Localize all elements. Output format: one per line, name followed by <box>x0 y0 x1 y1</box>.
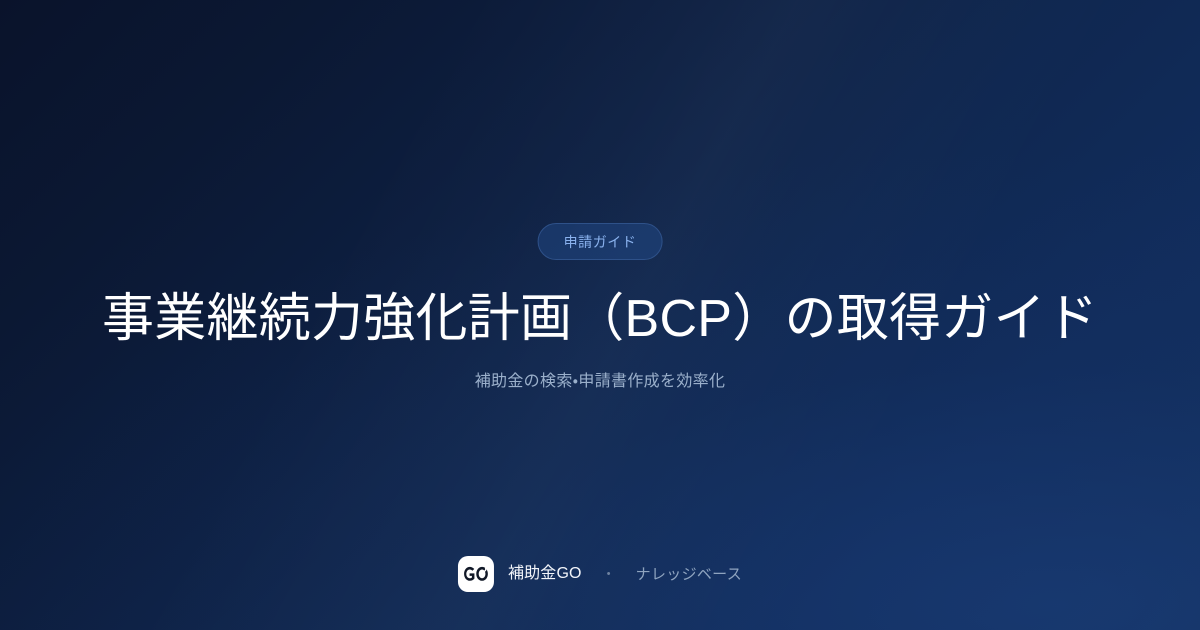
brand-footer: 補助金GO ・ ナレッジベース <box>458 556 742 592</box>
brand-separator: ・ <box>602 567 616 581</box>
category-badge: 申請ガイド <box>538 223 663 260</box>
card-content: 申請ガイド 事業継続力強化計画（BCP）の取得ガイド 補助金の検索・申請書作成を… <box>0 0 1200 630</box>
brand-name: 補助金GO <box>508 566 582 582</box>
go-logo-icon <box>458 556 494 592</box>
og-card: 申請ガイド 事業継続力強化計画（BCP）の取得ガイド 補助金の検索・申請書作成を… <box>0 0 1200 630</box>
page-subtitle: 補助金の検索・申請書作成を効率化 <box>150 370 1050 394</box>
category-badge-label: 申請ガイド <box>564 235 637 249</box>
page-title: 事業継続力強化計画（BCP）の取得ガイド <box>50 289 1150 350</box>
brand-section-label: ナレッジベース <box>636 567 742 582</box>
